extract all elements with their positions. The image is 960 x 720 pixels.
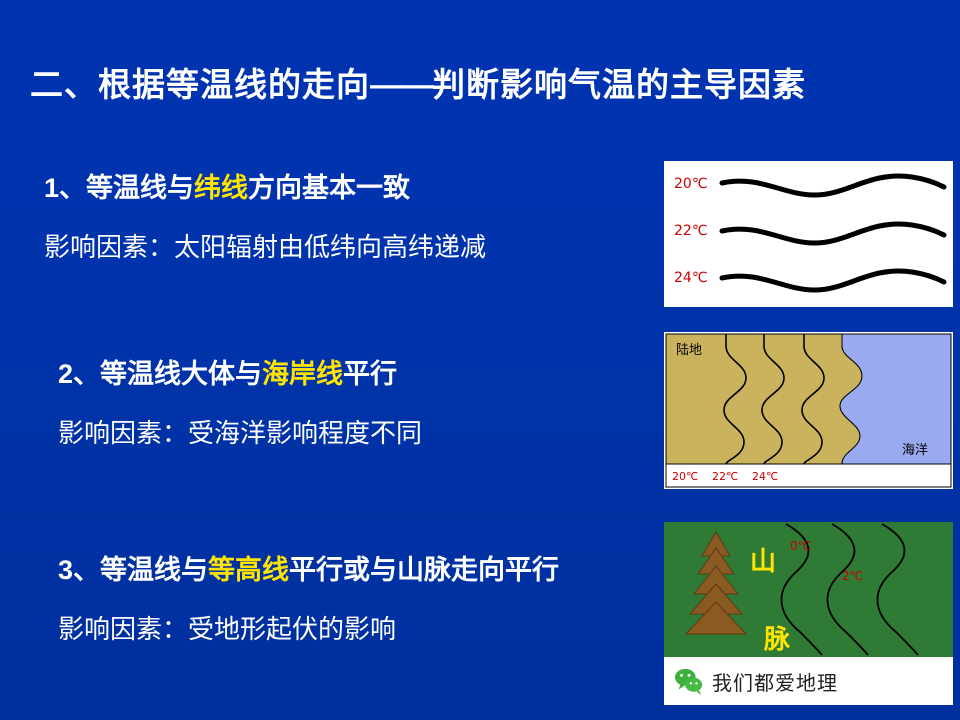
fig2-axis-label-1: 22℃ [712,470,738,483]
point-1-index: 1、 [44,173,86,203]
point-1-heading: 1、等温线与纬线方向基本一致 [44,166,486,205]
point-3-heading: 3、等温线与等高线平行或与山脉走向平行 [58,548,559,587]
point-1-head-b: 方向基本一致 [248,173,410,203]
fig1-label-0: 20℃ [674,176,708,192]
point-2-index: 2、 [58,359,100,389]
fig3-label-1: 2℃ [842,569,863,583]
fig3-mountain-char-2: 脉 [764,625,791,655]
point-2-subtext: 影响因素：受海洋影响程度不同 [58,413,422,450]
fig2-axis-label-0: 20℃ [672,470,698,483]
watermark-bar: 我们都爱地理 [664,657,953,705]
point-2-highlight: 海岸线 [262,359,343,389]
page-title-prefix: 二、根据等温线的走向 [30,66,370,103]
point-block-1: 1、等温线与纬线方向基本一致 影响因素：太阳辐射由低纬向高纬递减 [44,166,486,264]
coastline-isotherm-svg: 20℃ 22℃ 24℃ 陆地 海洋 [664,332,953,489]
figure-latitude-isotherms: 20℃ 22℃ 24℃ [664,161,953,307]
fig2-land-label: 陆地 [676,342,702,358]
latitude-isotherm-svg: 20℃ 22℃ 24℃ [664,161,953,307]
point-2-heading: 2、等温线大体与海岸线平行 [58,352,422,391]
figure-coastline-isotherms: 20℃ 22℃ 24℃ 陆地 海洋 [664,332,953,489]
point-3-highlight: 等高线 [208,555,289,585]
fig2-axis-label-2: 24℃ [752,470,778,483]
point-2-head-a: 等温线大体与 [100,359,262,389]
fig2-sea-area [840,334,951,464]
wechat-icon [674,666,704,696]
fig2-axis-strip [666,464,951,487]
point-3-subtext: 影响因素：受地形起伏的影响 [58,609,559,646]
fig1-label-2: 24℃ [674,270,708,286]
fig2-sea-label: 海洋 [902,443,928,458]
slide-root: 二、根据等温线的走向——判断影响气温的主导因素 1、等温线与纬线方向基本一致 影… [0,0,960,720]
point-1-subtext: 影响因素：太阳辐射由低纬向高纬递减 [44,227,486,264]
point-2-head-b: 平行 [343,359,397,389]
point-block-2: 2、等温线大体与海岸线平行 影响因素：受海洋影响程度不同 [58,352,422,450]
point-3-head-b: 平行或与山脉走向平行 [289,555,559,585]
fig3-mountain-char-1: 山 [750,547,776,577]
fig1-label-1: 22℃ [674,223,708,239]
terrain-isotherm-svg: 山 脉 0℃ 2℃ [664,522,953,657]
fig3-label-0: 0℃ [790,539,811,553]
figure-terrain-isotherms: 山 脉 0℃ 2℃ [664,522,953,657]
point-3-head-a: 等温线与 [100,555,208,585]
page-title-suffix: 判断影响气温的主导因素 [432,66,806,103]
point-1-highlight: 纬线 [194,173,248,203]
point-3-index: 3、 [58,555,100,585]
page-title-dash: —— [370,66,432,103]
watermark-text: 我们都爱地理 [712,667,838,696]
point-1-head-a: 等温线与 [86,173,194,203]
point-block-3: 3、等温线与等高线平行或与山脉走向平行 影响因素：受地形起伏的影响 [58,548,559,646]
page-title: 二、根据等温线的走向——判断影响气温的主导因素 [30,58,930,106]
